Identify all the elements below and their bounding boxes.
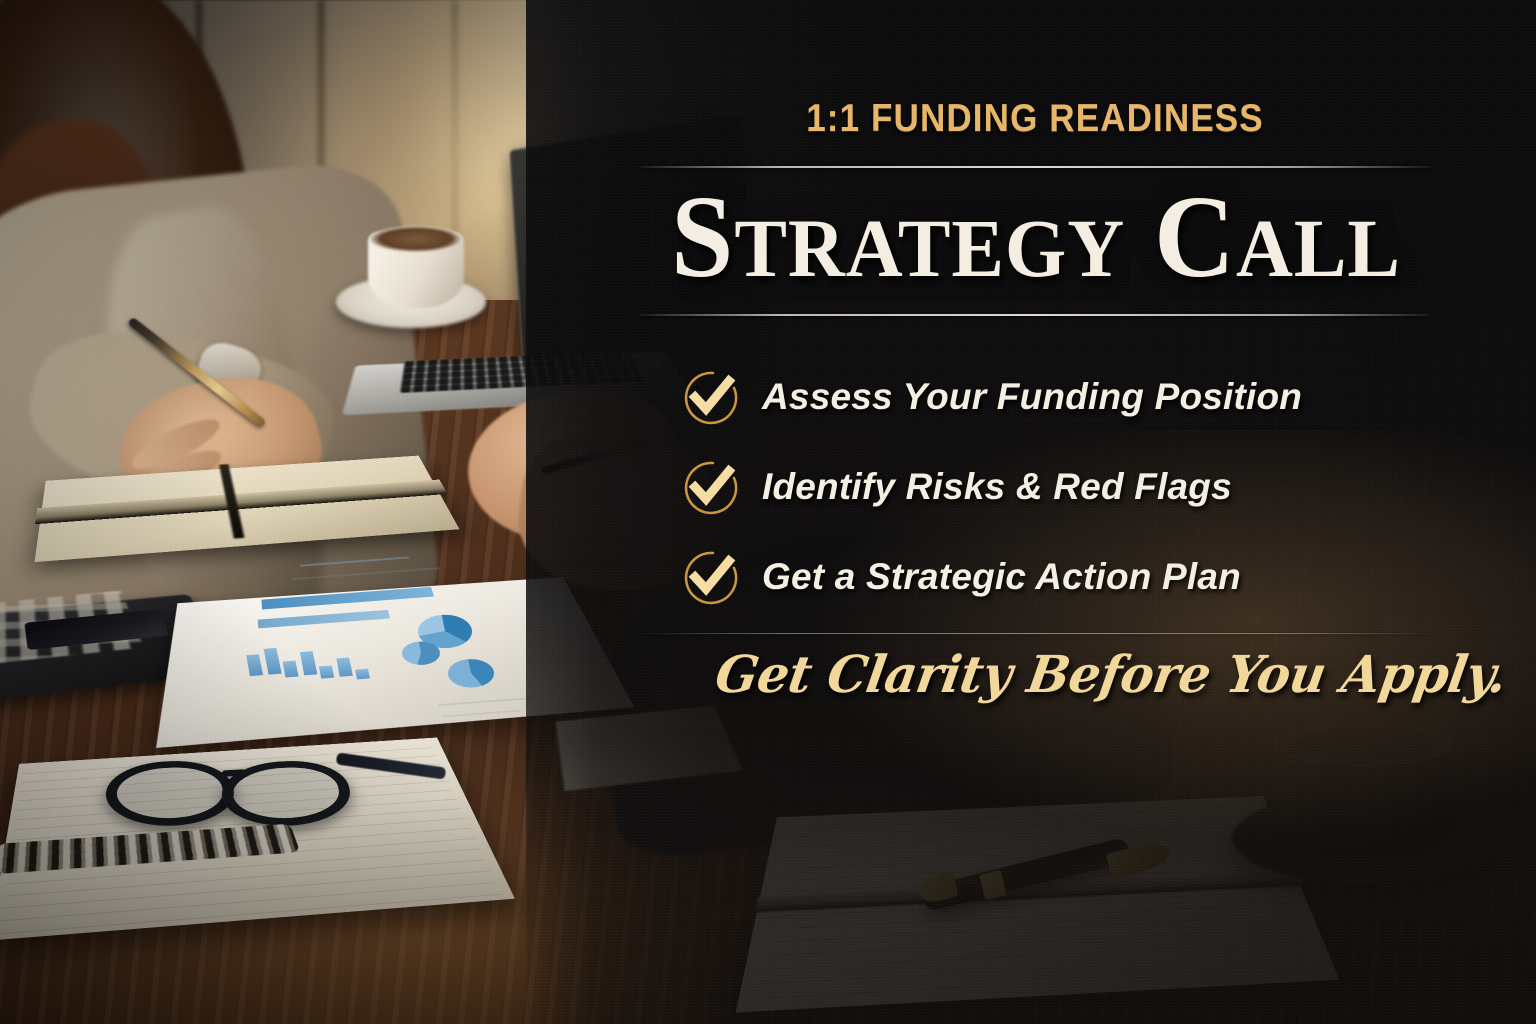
page-title: Strategy Call	[628, 178, 1445, 296]
banner-content: 1:1 FUNDING READINESS Strategy Call Asse…	[596, 0, 1476, 1024]
eyebrow-text: 1:1 FUNDING READINESS	[680, 99, 1391, 138]
check-icon	[682, 368, 740, 426]
list-item-label: Assess Your Funding Position	[762, 376, 1302, 418]
report-column	[355, 669, 370, 680]
list-item: Identify Risks & Red Flags	[682, 442, 1472, 532]
divider-top	[640, 166, 1430, 168]
list-item: Assess Your Funding Position	[682, 352, 1472, 442]
banner-canvas: 1:1 FUNDING READINESS Strategy Call Asse…	[0, 0, 1536, 1024]
check-icon	[682, 458, 740, 516]
tagline-text: Get Clarity Before You Apply.	[712, 650, 1457, 701]
benefits-list: Assess Your Funding Position Identify Ri…	[682, 352, 1472, 622]
eyeglasses-bridge	[222, 769, 247, 777]
report-column	[319, 665, 334, 678]
list-item: Get a Strategic Action Plan	[682, 532, 1472, 622]
list-item-label: Identify Risks & Red Flags	[762, 466, 1232, 508]
divider-middle	[640, 314, 1430, 316]
divider-bottom	[640, 633, 1430, 634]
coffee-surface	[370, 226, 462, 252]
list-item-label: Get a Strategic Action Plan	[762, 556, 1241, 598]
check-icon	[682, 548, 740, 606]
